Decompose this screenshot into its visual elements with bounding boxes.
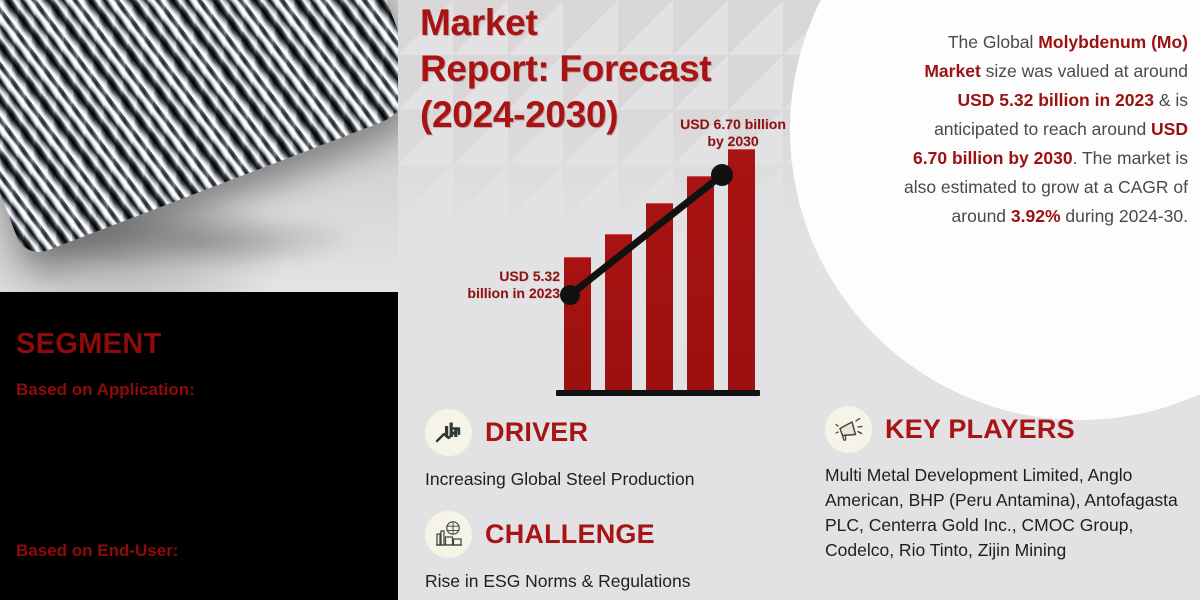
chart-annotation-2023-line1: USD 5.32	[432, 268, 560, 285]
driver-block: DRIVER Increasing Global Steel Productio…	[425, 409, 805, 492]
key-players-header: KEY PLAYERS	[825, 406, 1200, 453]
infographic-canvas: SEGMENT Based on Application: Based on E…	[0, 0, 1200, 600]
challenge-header: CHALLENGE	[425, 511, 805, 558]
segment-panel: SEGMENT Based on Application: Based on E…	[0, 292, 398, 600]
segment-application-label: Based on Application:	[16, 381, 398, 398]
chart-annotation-2030: USD 6.70 billion by 2030	[648, 116, 818, 150]
market-description: The Global Molybdenum (Mo) Market size w…	[900, 28, 1188, 231]
key-players-body: Multi Metal Development Limited, Anglo A…	[825, 463, 1200, 563]
chart-annotation-2023: USD 5.32 billion in 2023	[432, 268, 560, 302]
chart-annotation-2030-line1: USD 6.70 billion	[648, 116, 818, 133]
desc-bold-2023-value: USD 5.32 billion in 2023	[957, 90, 1153, 110]
segment-enduser-label: Based on End-User:	[16, 542, 398, 559]
page-title-clipped-line: Molybdenum (Mo) Market	[420, 0, 820, 46]
chart-bar-2024	[605, 234, 632, 390]
chart-annotation-2023-line2: billion in 2023	[432, 285, 560, 302]
page-title-line1: Report: Forecast	[420, 46, 820, 92]
megaphone-icon	[825, 406, 872, 453]
driver-header: DRIVER	[425, 409, 805, 456]
molybdenum-crystal-photo	[0, 0, 398, 292]
challenge-title: CHALLENGE	[485, 521, 655, 548]
desc-bold-cagr: 3.92%	[1011, 206, 1061, 226]
desc-seg-2: size was valued at around	[981, 61, 1188, 81]
chart-baseline-axis	[556, 390, 760, 396]
growth-chart-arrow-icon	[425, 409, 472, 456]
driver-title: DRIVER	[485, 419, 588, 446]
key-players-block: KEY PLAYERS Multi Metal Development Limi…	[825, 406, 1200, 563]
factory-industry-icon	[425, 511, 472, 558]
chart-bars	[564, 150, 764, 390]
segment-title: SEGMENT	[16, 330, 398, 359]
chart-bar-2023	[564, 257, 591, 390]
chart-bar-2028	[687, 176, 714, 390]
challenge-block: CHALLENGE Rise in ESG Norms & Regulation…	[425, 511, 805, 594]
desc-seg-5: during 2024-30.	[1061, 206, 1188, 226]
challenge-body: Rise in ESG Norms & Regulations	[425, 569, 805, 594]
chart-annotation-2030-line2: by 2030	[648, 133, 818, 150]
chart-bar-2026	[646, 203, 673, 390]
driver-body: Increasing Global Steel Production	[425, 467, 805, 492]
desc-seg-1: The Global	[948, 32, 1038, 52]
key-players-title: KEY PLAYERS	[885, 416, 1075, 443]
chart-bar-2030	[728, 149, 755, 390]
market-growth-bar-chart: USD 5.32 billion in 2023 USD 6.70 billio…	[420, 118, 820, 403]
